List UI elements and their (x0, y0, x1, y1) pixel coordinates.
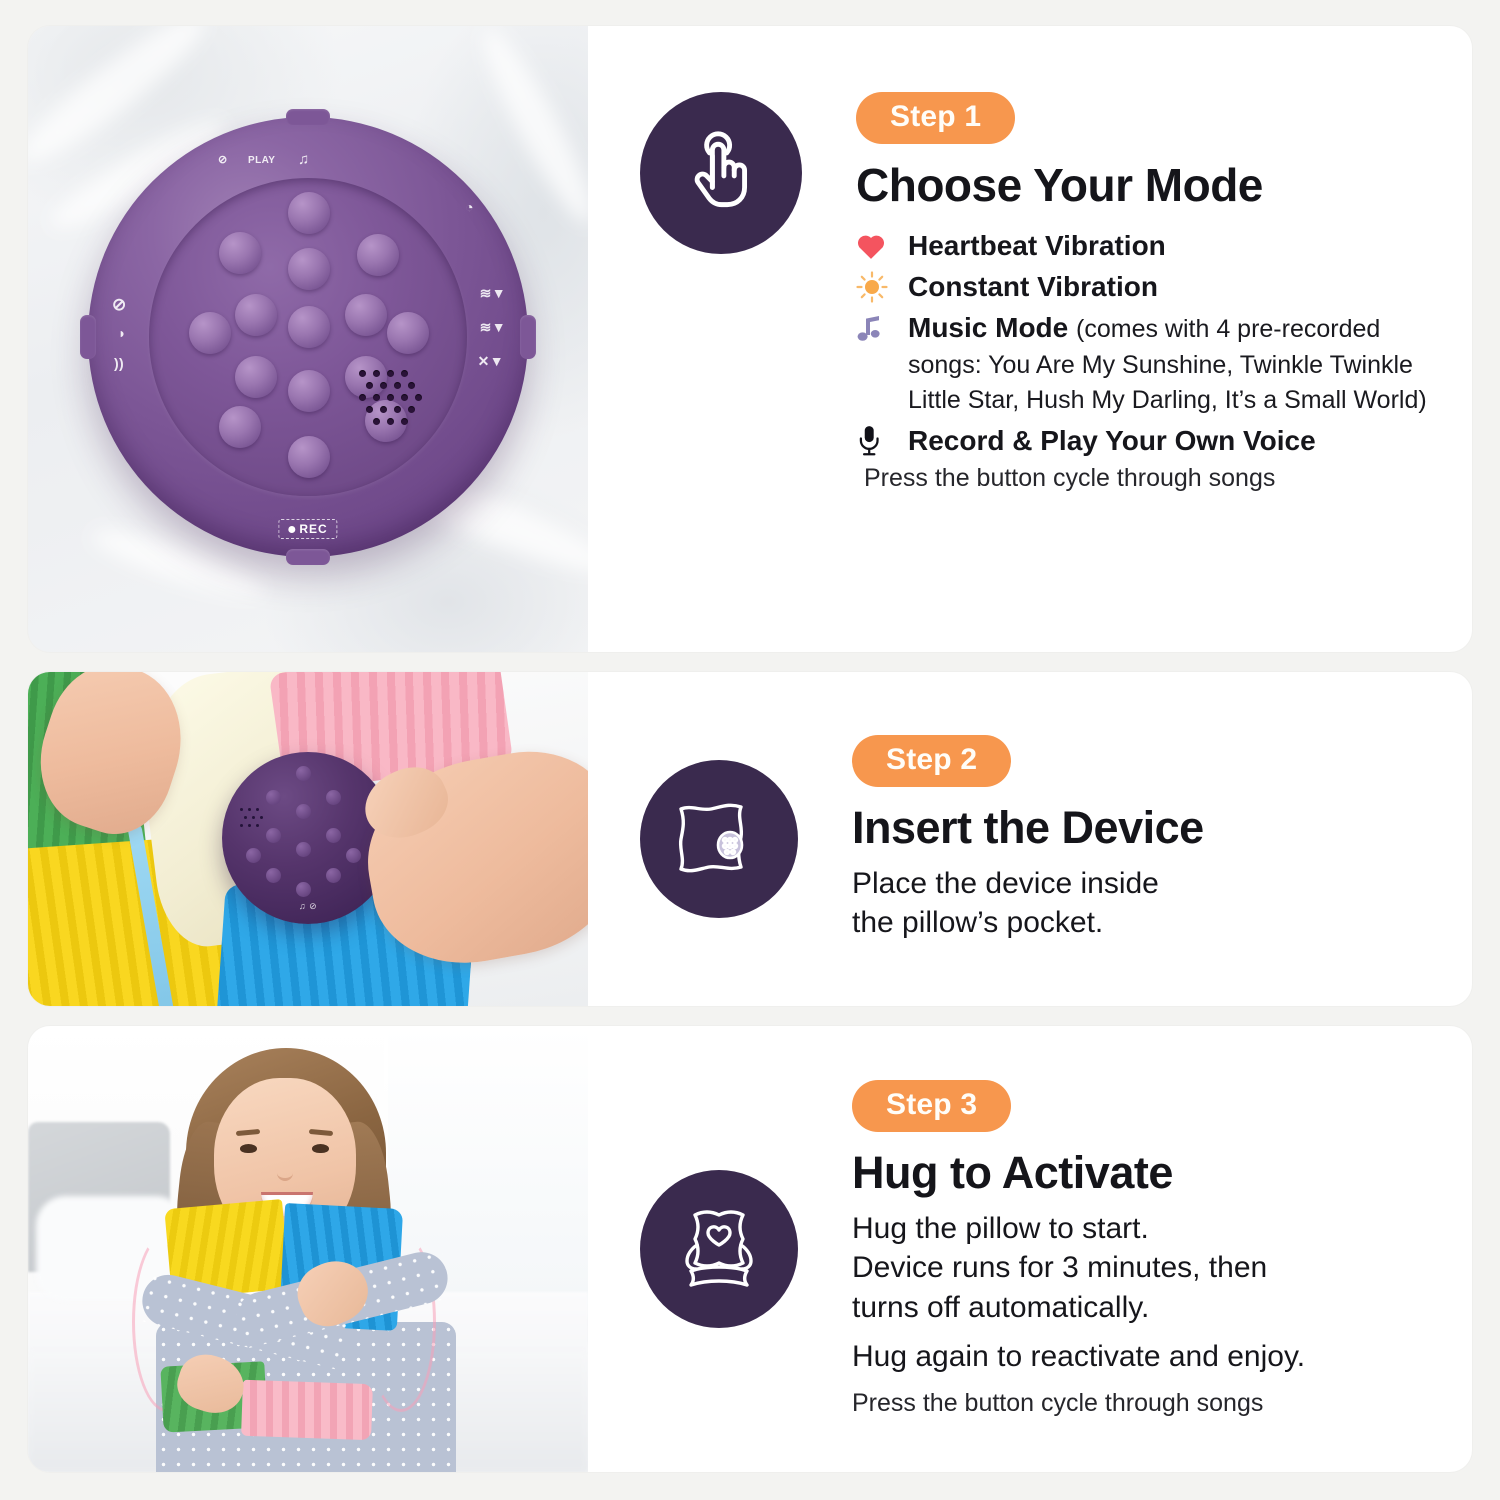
eye-right (312, 1144, 329, 1153)
step-3-body: Step 3 Hug to Activate Hug the pillow to… (852, 1080, 1434, 1418)
list-item-label: Music Mode (comes with 4 pre-recorded so… (908, 310, 1434, 417)
pillow-with-device-icon (640, 760, 798, 918)
step-3-line-2: Device runs for 3 minutes, then (852, 1248, 1434, 1288)
step-2-line-1: Place the device inside (852, 864, 1434, 904)
step-3-line-1: Hug the pillow to start. (852, 1209, 1434, 1249)
microphone-icon (856, 423, 908, 457)
list-item: Heartbeat Vibration (856, 228, 1434, 263)
mode-list: Heartbeat Vibration Constant Vibration (856, 228, 1434, 458)
speaker-grille-small (238, 806, 272, 834)
vibration-device: ⊘ PLAY ♫ ◔ ⊘ ◗ )) ≋▼ ≋▼ ✕▼ (88, 117, 528, 557)
device-label-level-off: ✕▼ (478, 353, 504, 370)
step-2-headline: Insert the Device (852, 803, 1434, 853)
step-3-headline: Hug to Activate (852, 1148, 1434, 1198)
device-label-power: ⊘ (112, 295, 127, 315)
device-label-mode: ⊘ (218, 153, 228, 166)
list-item-label: Record & Play Your Own Voice (908, 423, 1316, 458)
tap-hand-icon (640, 92, 802, 254)
step-3-note: Press the button cycle through songs (852, 1389, 1434, 1418)
step-1-content: Step 1 Choose Your Mode Heartbeat Vibrat… (588, 26, 1472, 652)
device-small-label: ♫ ⊘ (299, 901, 317, 912)
step-3-panel: Step 3 Hug to Activate Hug the pillow to… (28, 1026, 1472, 1472)
speaker-grille (355, 368, 433, 430)
device-label-speaker: ◔ (465, 199, 474, 215)
step-1-note: Press the button cycle through songs (856, 464, 1434, 493)
step-1-body: Step 1 Choose Your Mode Heartbeat Vibrat… (856, 92, 1434, 493)
hugging-pillow-heart-icon (640, 1170, 798, 1328)
device-label-heartbeat: ◗ (118, 325, 127, 341)
list-item: Music Mode (comes with 4 pre-recorded so… (856, 310, 1434, 417)
step-3-line-4: Hug again to reactivate and enjoy. (852, 1337, 1434, 1377)
step-2-line-2: the pillow’s pocket. (852, 903, 1434, 943)
vibration-device-small: ♫ ⊘ (222, 752, 394, 924)
pillow-pink-quadrant (241, 1380, 373, 1441)
step-1-panel: ⊘ PLAY ♫ ◔ ⊘ ◗ )) ≋▼ ≋▼ ✕▼ (28, 26, 1472, 652)
device-label-wave: )) (114, 355, 124, 371)
device-nub-right (520, 315, 536, 359)
device-label-play: PLAY (248, 155, 275, 166)
heart-icon (856, 228, 908, 262)
infographic-page: ⊘ PLAY ♫ ◔ ⊘ ◗ )) ≋▼ ≋▼ ✕▼ (0, 0, 1500, 1500)
step-2-body: Step 2 Insert the Device Place the devic… (852, 735, 1434, 943)
step-3-content: Step 3 Hug to Activate Hug the pillow to… (588, 1026, 1472, 1472)
device-label-music: ♫ (298, 151, 310, 168)
step-3-line-3: turns off automatically. (852, 1288, 1434, 1328)
device-label-level-2: ≋▼ (480, 319, 506, 336)
eye-left (240, 1144, 257, 1153)
sun-icon (856, 269, 908, 303)
step-1-badge: Step 1 (856, 92, 1015, 144)
girl-hugging-pillow-photo (28, 1026, 588, 1472)
step-2-badge: Step 2 (852, 735, 1011, 787)
hands-inserting-device-photo: ♫ ⊘ (28, 672, 588, 1006)
product-device-closeup-photo: ⊘ PLAY ♫ ◔ ⊘ ◗ )) ≋▼ ≋▼ ✕▼ (28, 26, 588, 652)
device-nub-bottom (286, 549, 330, 565)
list-item: Record & Play Your Own Voice (856, 423, 1434, 458)
device-rec-label: REC (278, 519, 337, 539)
step-3-badge: Step 3 (852, 1080, 1011, 1132)
list-item-label: Heartbeat Vibration (908, 228, 1166, 263)
list-item: Constant Vibration (856, 269, 1434, 304)
music-note-icon (856, 310, 908, 344)
step-1-headline: Choose Your Mode (856, 160, 1434, 212)
device-bump-pad (149, 178, 467, 496)
step-2-content: Step 2 Insert the Device Place the devic… (588, 672, 1472, 1006)
step-2-panel: ♫ ⊘ Step 2 Insert the Device (28, 672, 1472, 1006)
device-nub-left (80, 315, 96, 359)
music-mode-title: Music Mode (908, 312, 1068, 343)
list-item-label: Constant Vibration (908, 269, 1158, 304)
device-label-level-1: ≋▼ (480, 285, 506, 302)
device-nub-top (286, 109, 330, 125)
